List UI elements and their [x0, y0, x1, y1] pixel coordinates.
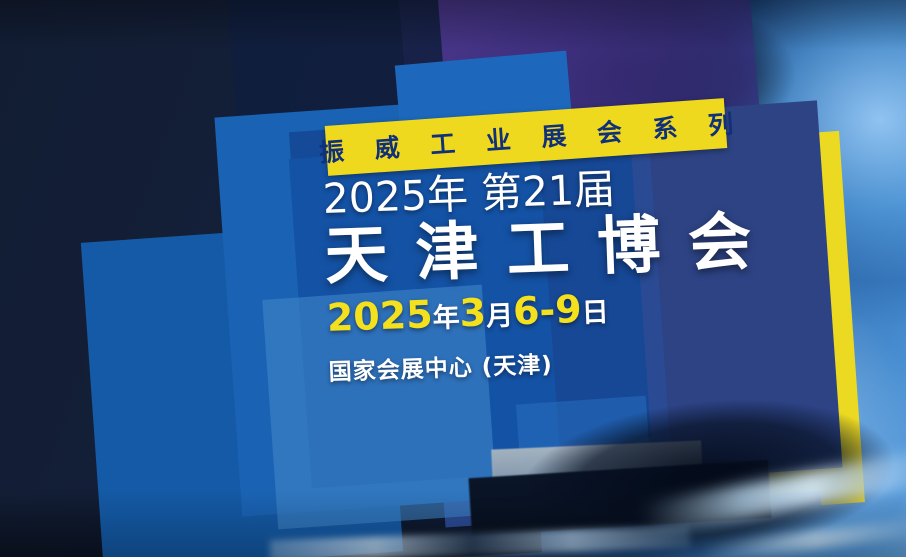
event-date-line: 2025年3月6-9日: [326, 284, 747, 339]
expo-poster-banner: 振 威 工 业 展 会 系 列 2025年 第21届 天 津 工 博 会 202…: [0, 0, 906, 557]
date-day-label: 日: [581, 297, 609, 329]
date-day-number: 6-9: [512, 287, 582, 333]
date-year-number: 2025: [326, 292, 433, 340]
date-month-label: 月: [486, 301, 514, 333]
poster-text-stack: 2025年 第21届 天 津 工 博 会 2025年3月6-9日 国家会展中心 …: [322, 163, 749, 386]
date-month-number: 3: [459, 290, 487, 335]
page-title: 天 津 工 博 会: [324, 208, 746, 291]
date-year-label: 年: [432, 302, 460, 334]
